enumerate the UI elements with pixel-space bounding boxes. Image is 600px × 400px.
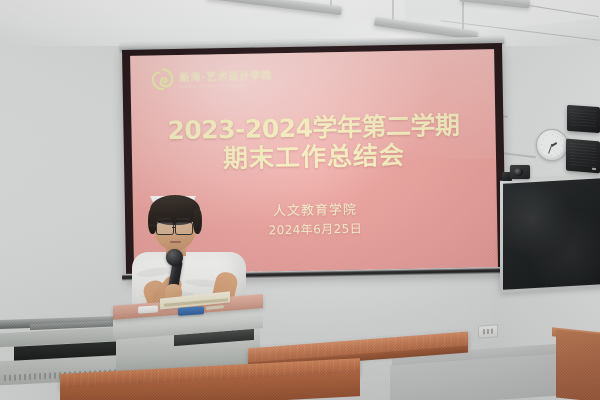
microphone-head [166, 249, 183, 266]
presenter-mouth [170, 241, 181, 243]
slide-title-line2: 期末工作总结会 [132, 140, 496, 175]
wall-camera [510, 165, 530, 179]
power-outlet [478, 324, 498, 338]
glasses-icon [156, 222, 174, 235]
chalkboard-surface [503, 178, 600, 289]
glasses-bridge [172, 227, 176, 228]
presenter-hair-side [193, 208, 202, 234]
speaker-grille [570, 143, 596, 168]
desk-side [556, 329, 600, 400]
wall-speaker [567, 105, 600, 133]
wall-clock [536, 129, 568, 161]
slide-logo: 新海·艺术设计学院 SCHOOL OF ART AND DESIGN [150, 65, 272, 91]
speaker-badge [592, 168, 596, 170]
chalkboard-dust [503, 178, 600, 289]
slide-title: 2023-2024学年第二学期 期末工作总结会 [131, 111, 496, 175]
chalkboard [500, 175, 600, 293]
logo-institution-en: SCHOOL OF ART AND DESIGN [180, 83, 273, 89]
classroom-photo: 新海·艺术设计学院 SCHOOL OF ART AND DESIGN 2023-… [0, 0, 600, 400]
wall-speaker [566, 139, 600, 174]
logo-text-block: 新海·艺术设计学院 SCHOOL OF ART AND DESIGN [179, 67, 272, 89]
white-object [138, 305, 158, 313]
camera-lens-icon [514, 168, 523, 176]
speaker-grille [571, 109, 596, 129]
spiral-leaf-logo-icon [150, 67, 174, 91]
logo-institution-cn: 新海·艺术设计学院 [179, 67, 272, 84]
glasses-icon [175, 222, 193, 235]
light-rod [462, 2, 464, 32]
